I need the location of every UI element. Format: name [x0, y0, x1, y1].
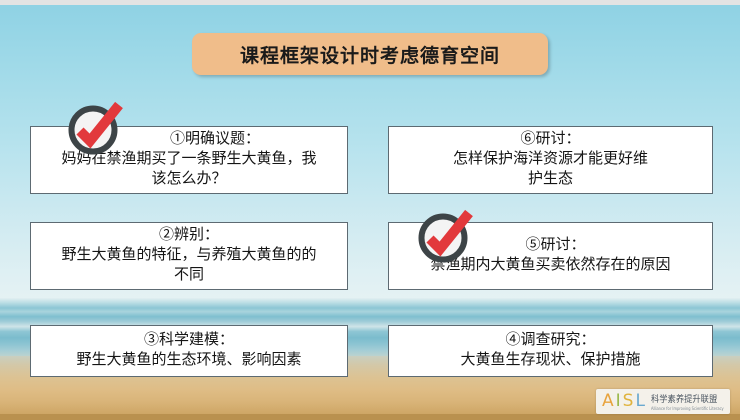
- box-6-line-2: 怎样保护海洋资源才能更好维: [453, 150, 648, 170]
- box-2-line-1: ②辨别：: [159, 226, 219, 246]
- box-6-line-1: ⑥研讨：: [520, 130, 580, 150]
- box-5-line-2: 禁渔期内大黄鱼买卖依然存在的原因: [430, 256, 670, 276]
- box-4-line-1: ④调查研究：: [505, 331, 595, 351]
- slide-canvas: 课程框架设计时考虑德育空间 ①明确议题： 妈妈在禁渔期买了一条野生大黄鱼，我 该…: [0, 0, 740, 420]
- aisl-logo-chinese: 科学素养提升联盟: [651, 392, 725, 405]
- aisl-letter-s: S: [622, 393, 635, 410]
- box-1-line-3: 该怎么办？: [151, 170, 226, 190]
- box-2-line-2: 野生大黄鱼的特征，与养殖大黄鱼的的: [61, 246, 316, 266]
- background-bottom-strip: [0, 414, 740, 420]
- content-box-2[interactable]: ②辨别： 野生大黄鱼的特征，与养殖大黄鱼的的 不同: [30, 222, 348, 290]
- box-1-line-1: ①明确议题：: [118, 130, 260, 150]
- box-3-line-1: ③科学建模：: [144, 331, 234, 351]
- slide-title-text: 课程框架设计时考虑德育空间: [240, 41, 500, 68]
- box-6-line-3: 护生态: [528, 170, 573, 190]
- aisl-letter-a: A: [601, 393, 615, 410]
- box-1-line-2: 妈妈在禁渔期买了一条野生大黄鱼，我: [61, 150, 316, 170]
- aisl-logo-text: 科学素养提升联盟 Alliance for Improving Scientif…: [649, 392, 730, 411]
- aisl-logo-letters: A I S L: [596, 393, 649, 410]
- aisl-logo-english: Alliance for Improving Scientific Litera…: [651, 406, 724, 411]
- content-box-3[interactable]: ③科学建模： 野生大黄鱼的生态环境、影响因素: [30, 325, 348, 377]
- aisl-letter-i: I: [615, 393, 622, 410]
- box-5-line-1: ⑤研讨：: [515, 236, 585, 256]
- content-box-5[interactable]: ⑤研讨： 禁渔期内大黄鱼买卖依然存在的原因: [388, 222, 713, 290]
- slide-title-box: 课程框架设计时考虑德育空间: [192, 33, 548, 75]
- content-box-6[interactable]: ⑥研讨： 怎样保护海洋资源才能更好维 护生态: [388, 126, 713, 194]
- box-2-line-3: 不同: [174, 266, 204, 286]
- box-4-line-2: 大黄鱼生存现状、保护措施: [460, 351, 640, 371]
- content-box-1[interactable]: ①明确议题： 妈妈在禁渔期买了一条野生大黄鱼，我 该怎么办？: [30, 126, 348, 194]
- box-3-line-2: 野生大黄鱼的生态环境、影响因素: [76, 351, 301, 371]
- aisl-letter-l: L: [634, 393, 645, 410]
- aisl-logo: A I S L 科学素养提升联盟 Alliance for Improving …: [596, 389, 730, 414]
- content-box-4[interactable]: ④调查研究： 大黄鱼生存现状、保护措施: [388, 325, 713, 377]
